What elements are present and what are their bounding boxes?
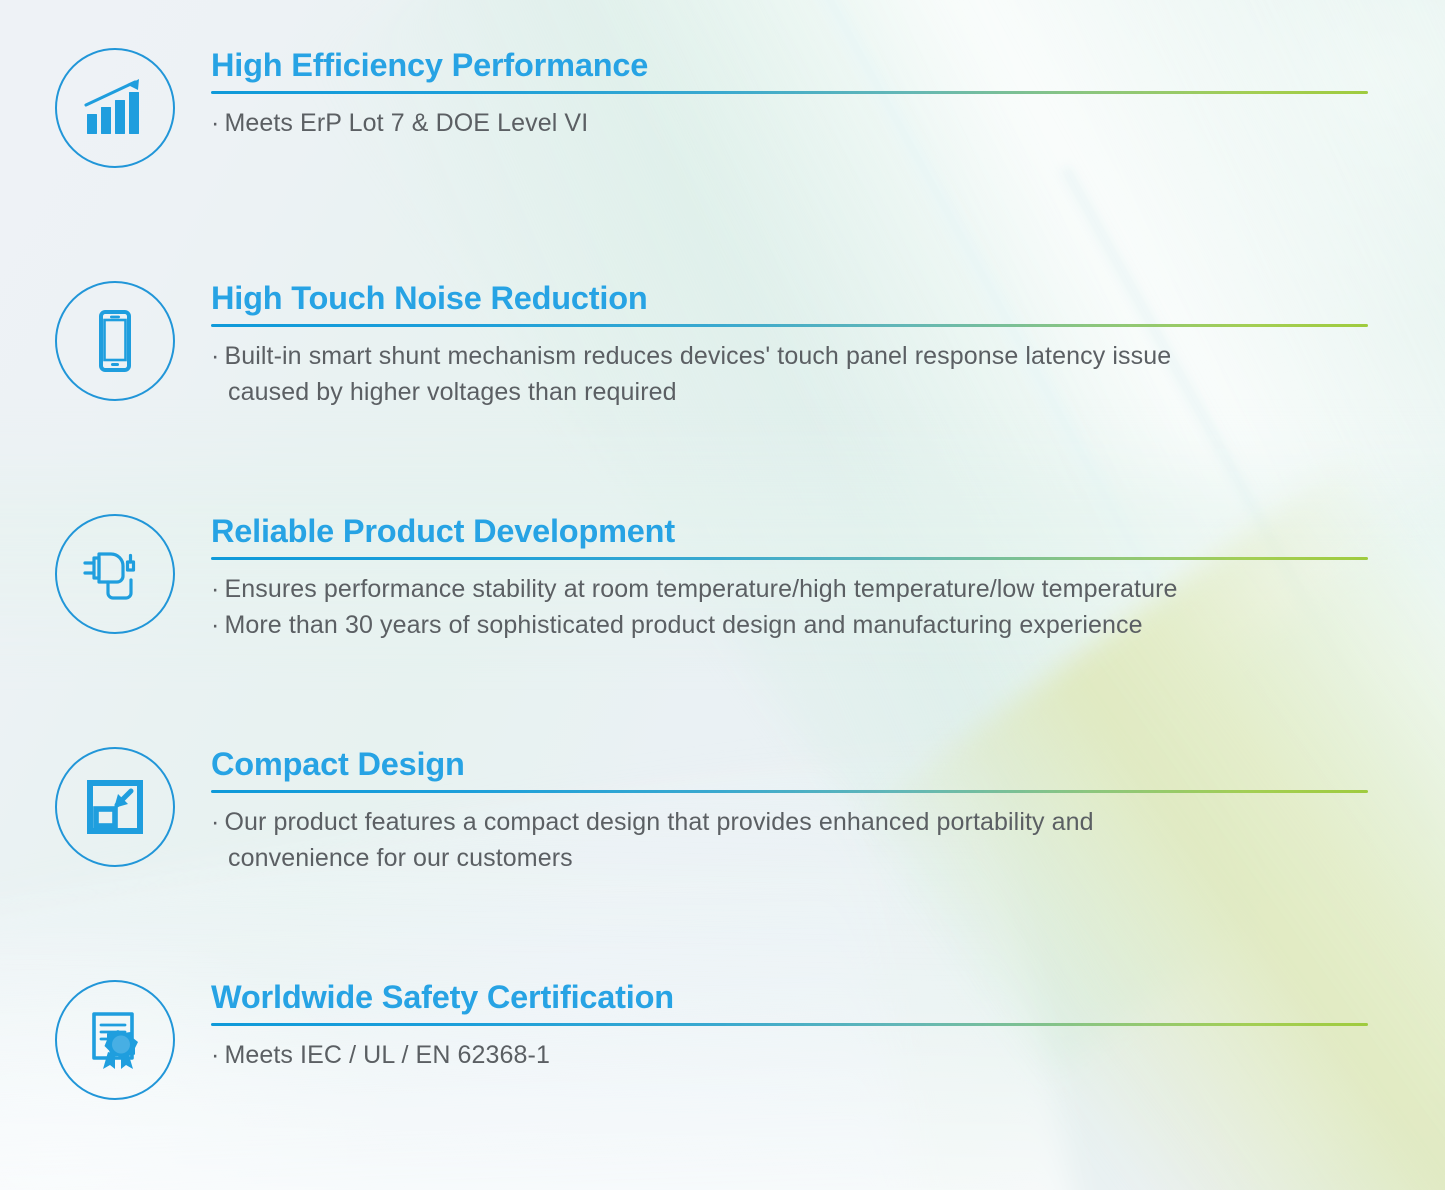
bullet-marker: · (211, 808, 219, 836)
feature-text-column: Worldwide Safety Certification ·Meets IE… (211, 980, 1391, 1073)
smartphone-icon (81, 307, 149, 375)
feature-description-line: ·Built-in smart shunt mechanism reduces … (211, 338, 1391, 411)
bullet-marker: · (211, 342, 219, 370)
feature-text-column: Reliable Product Development ·Ensures pe… (211, 514, 1391, 644)
feature-divider (211, 91, 1368, 94)
feature-icon-wrap (55, 747, 175, 867)
feature-text-column: High Efficiency Performance ·Meets ErP L… (211, 48, 1391, 141)
feature-description: ·Our product features a compact design t… (211, 804, 1391, 877)
feature-divider (211, 790, 1368, 793)
feature-title: High Efficiency Performance (211, 48, 1391, 82)
bullet-marker: · (211, 611, 219, 639)
feature-description-text: Built-in smart shunt mechanism reduces d… (224, 342, 1171, 370)
bullet-marker: · (211, 109, 219, 137)
feature-title: Reliable Product Development (211, 514, 1391, 548)
feature-icon-wrap (55, 281, 175, 401)
feature-description-line: ·Meets ErP Lot 7 & DOE Level VI (211, 105, 1391, 141)
feature-description: ·Ensures performance stability at room t… (211, 571, 1391, 644)
feature-description-line: ·Our product features a compact design t… (211, 804, 1391, 877)
feature-text-column: High Touch Noise Reduction ·Built-in sma… (211, 281, 1391, 411)
feature-description-continuation: convenience for our customers (211, 840, 1391, 876)
feature-icon-wrap (55, 980, 175, 1100)
feature-description-line: ·Meets IEC / UL / EN 62368-1 (211, 1037, 1391, 1073)
feature-divider (211, 324, 1368, 327)
feature-icon-wrap (55, 48, 175, 168)
compact-resize-icon (81, 773, 149, 841)
certificate-award-icon (81, 1006, 149, 1074)
bullet-marker: · (211, 575, 219, 603)
feature-description-line: ·Ensures performance stability at room t… (211, 571, 1391, 607)
feature-divider (211, 1023, 1368, 1026)
feature-title: Worldwide Safety Certification (211, 980, 1391, 1014)
feature-description-text: Ensures performance stability at room te… (224, 575, 1177, 603)
feature-highlight-page: High Efficiency Performance ·Meets ErP L… (0, 0, 1445, 1190)
feature-description-continuation: caused by higher voltages than required (211, 374, 1391, 410)
feature-description-text: Our product features a compact design th… (224, 808, 1093, 836)
bar-chart-growth-icon (81, 74, 149, 142)
feature-description-line: ·More than 30 years of sophisticated pro… (211, 607, 1391, 643)
feature-description-text: Meets ErP Lot 7 & DOE Level VI (224, 109, 588, 137)
bullet-marker: · (211, 1041, 219, 1069)
feature-description: ·Built-in smart shunt mechanism reduces … (211, 338, 1391, 411)
feature-icon-wrap (55, 514, 175, 634)
feature-title: High Touch Noise Reduction (211, 281, 1391, 315)
feature-text-column: Compact Design ·Our product features a c… (211, 747, 1391, 877)
feature-list: High Efficiency Performance ·Meets ErP L… (0, 0, 1445, 1190)
feature-description-text: More than 30 years of sophisticated prod… (224, 611, 1142, 639)
feature-description-text: Meets IEC / UL / EN 62368-1 (224, 1041, 550, 1069)
feature-title: Compact Design (211, 747, 1391, 781)
power-adapter-icon (81, 540, 149, 608)
feature-description: ·Meets ErP Lot 7 & DOE Level VI (211, 105, 1391, 141)
feature-description: ·Meets IEC / UL / EN 62368-1 (211, 1037, 1391, 1073)
feature-divider (211, 557, 1368, 560)
